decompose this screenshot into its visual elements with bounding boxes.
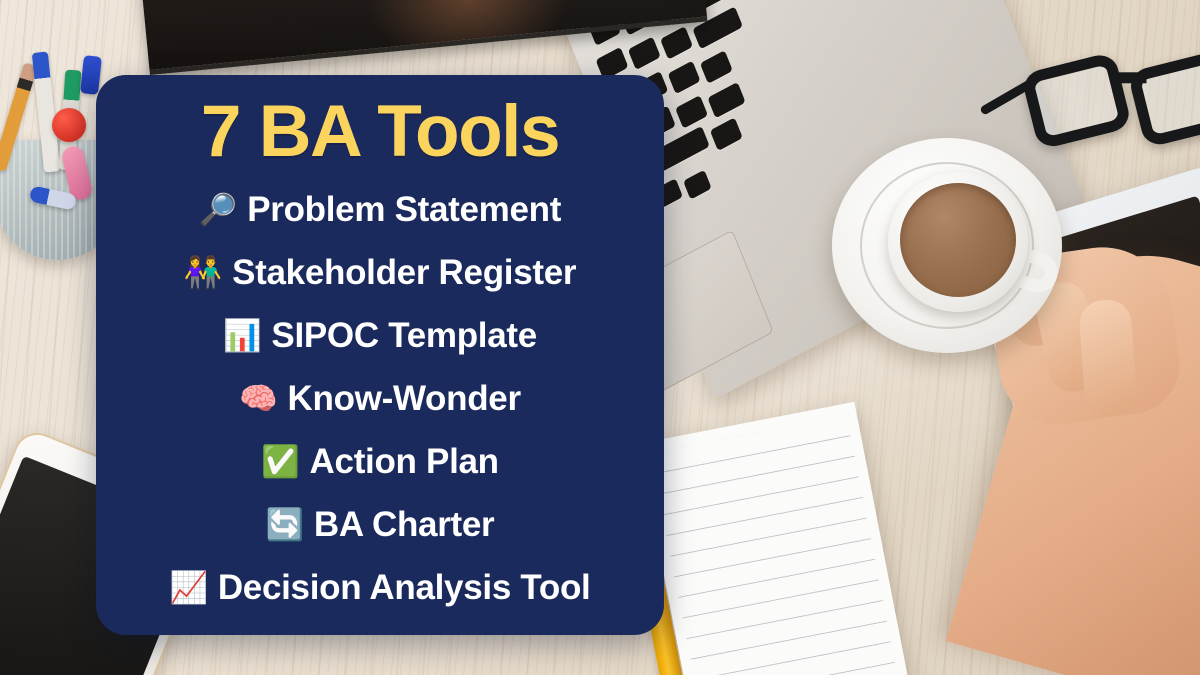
list-item: 🔄 BA Charter [96,493,664,556]
red-stamp [52,108,86,142]
list-item-label: Stakeholder Register [232,253,576,293]
chart-increasing-icon: 📈 [170,572,208,603]
list-item: 👫 Stakeholder Register [96,241,664,304]
list-item-label: BA Charter [314,505,494,545]
counterclockwise-arrows-icon: 🔄 [266,509,304,540]
tools-list: 🔎 Problem Statement 👫 Stakeholder Regist… [96,178,664,619]
list-item: ✅ Action Plan [96,430,664,493]
check-mark-button-icon: ✅ [261,446,299,477]
people-holding-hands-icon: 👫 [184,257,222,288]
glasses-bridge [1112,72,1146,83]
card-title: 7 BA Tools [201,95,559,168]
coffee-liquid [900,183,1016,297]
list-item-label: Action Plan [310,442,499,482]
magnifying-glass-icon: 🔎 [199,194,237,225]
list-item: 🧠 Know-Wonder [96,367,664,430]
saucer [832,138,1062,353]
list-item-label: Problem Statement [247,190,561,230]
list-item-label: Decision Analysis Tool [218,568,591,608]
list-item-label: Know-Wonder [288,379,521,419]
tools-card: 7 BA Tools 🔎 Problem Statement 👫 Stakeho… [96,75,664,635]
coffee-mug [888,172,1028,312]
bar-chart-icon: 📊 [223,320,261,351]
middle-finger [1078,298,1138,417]
list-item: 🔎 Problem Statement [96,178,664,241]
brain-icon: 🧠 [239,383,277,414]
right-lens [1127,49,1200,148]
list-item-label: SIPOC Template [271,316,537,356]
list-item: 📊 SIPOC Template [96,304,664,367]
list-item: 📈 Decision Analysis Tool [96,556,664,619]
